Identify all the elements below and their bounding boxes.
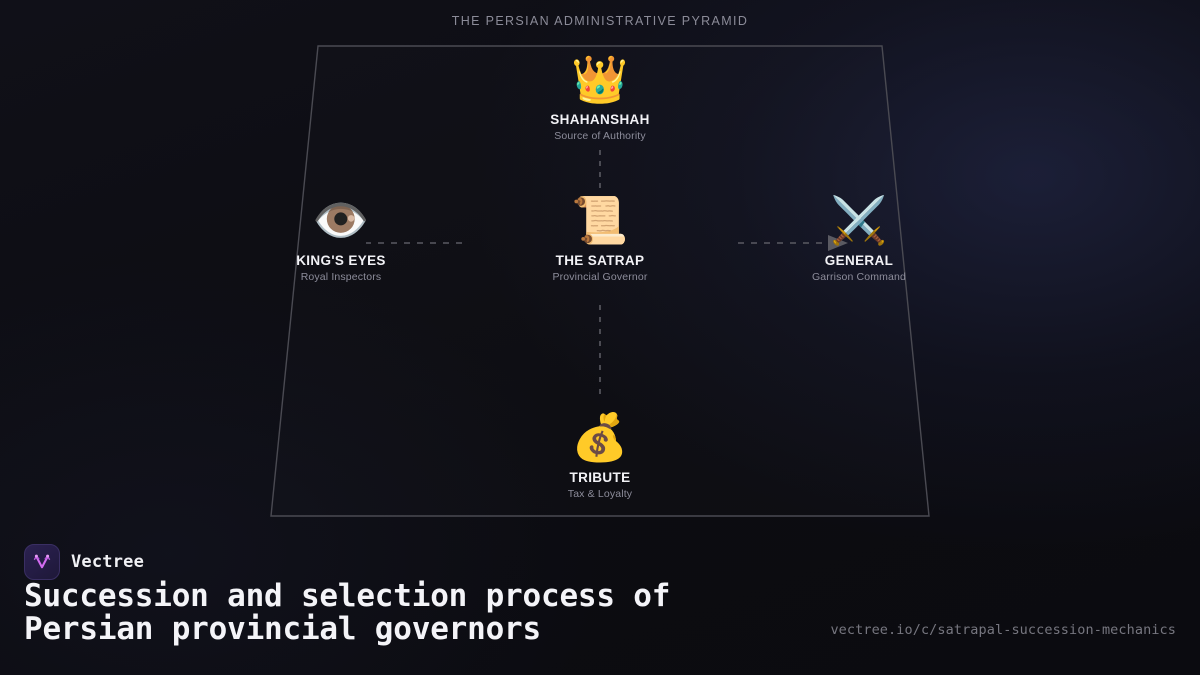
- node-tribute[interactable]: 💰 TRIBUTE Tax & Loyalty: [485, 410, 715, 500]
- node-general-title: GENERAL: [744, 253, 974, 268]
- footer: Vectree Succession and selection process…: [0, 530, 1200, 675]
- node-shahanshah[interactable]: 👑 SHAHANSHAH Source of Authority: [485, 52, 715, 142]
- node-kings-eyes[interactable]: 👁️ KING'S EYES Royal Inspectors: [226, 193, 456, 283]
- node-tribute-title: TRIBUTE: [485, 470, 715, 485]
- headline-line-2: Persian provincial governors: [24, 613, 824, 646]
- eye-icon: 👁️: [226, 193, 456, 247]
- node-tribute-subtitle: Tax & Loyalty: [485, 488, 715, 500]
- node-kings-eyes-subtitle: Royal Inspectors: [226, 271, 456, 283]
- node-satrap-title: THE SATRAP: [485, 253, 715, 268]
- money-bag-icon: 💰: [485, 410, 715, 464]
- diagram-canvas: THE PERSIAN ADMINISTRATIVE PYRAMID 👑 SHA…: [0, 0, 1200, 675]
- node-satrap-subtitle: Provincial Governor: [485, 271, 715, 283]
- node-shahanshah-subtitle: Source of Authority: [485, 130, 715, 142]
- diagram-title: THE PERSIAN ADMINISTRATIVE PYRAMID: [0, 14, 1200, 28]
- node-general-subtitle: Garrison Command: [744, 271, 974, 283]
- crown-icon: 👑: [485, 52, 715, 106]
- scroll-icon: 📜: [485, 193, 715, 247]
- node-kings-eyes-title: KING'S EYES: [226, 253, 456, 268]
- headline-line-1: Succession and selection process of: [24, 580, 824, 613]
- headline: Succession and selection process of Pers…: [24, 580, 824, 646]
- brand[interactable]: Vectree: [24, 544, 144, 580]
- brand-name: Vectree: [71, 552, 144, 572]
- node-satrap[interactable]: 📜 THE SATRAP Provincial Governor: [485, 193, 715, 283]
- crossed-swords-icon: ⚔️: [744, 193, 974, 247]
- vectree-logo-icon: [24, 544, 60, 580]
- node-shahanshah-title: SHAHANSHAH: [485, 112, 715, 127]
- source-url[interactable]: vectree.io/c/satrapal-succession-mechani…: [830, 622, 1176, 638]
- node-general[interactable]: ⚔️ GENERAL Garrison Command: [744, 193, 974, 283]
